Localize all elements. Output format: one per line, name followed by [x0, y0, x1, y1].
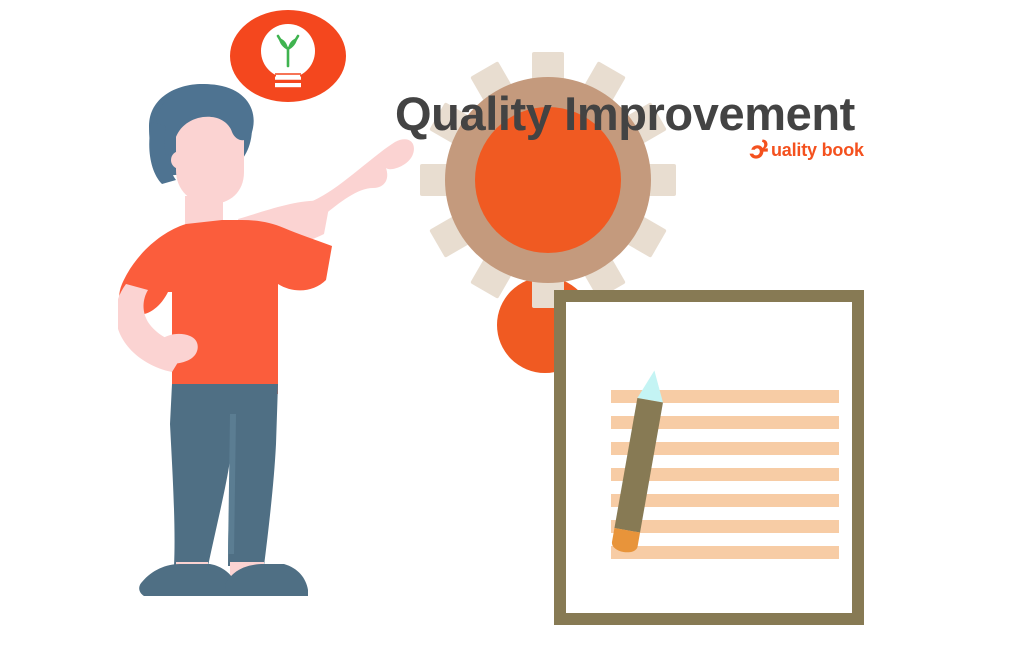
- note-document-with-pencil: [554, 290, 864, 625]
- pencil-eraser: [611, 528, 640, 554]
- character-ear: [171, 151, 189, 169]
- pencil-tip: [637, 368, 668, 402]
- brand-logo-text: uality book: [771, 141, 864, 159]
- illustration-canvas: Quality Improvement uality book: [0, 0, 1024, 657]
- note-paper: [566, 302, 852, 613]
- pencil-svg: [608, 364, 678, 564]
- pencil-icon: [608, 364, 678, 564]
- quality-book-q-mark-icon: [748, 138, 770, 162]
- person-pointing-illustration: [118, 84, 423, 599]
- pencil-body: [614, 398, 663, 533]
- brand-logo[interactable]: uality book: [748, 138, 864, 162]
- character-pants: [170, 384, 278, 566]
- character-shirt: [119, 220, 332, 394]
- character-left-shoe: [139, 564, 236, 596]
- character-svg: [118, 84, 423, 599]
- page-title: Quality Improvement: [395, 86, 855, 141]
